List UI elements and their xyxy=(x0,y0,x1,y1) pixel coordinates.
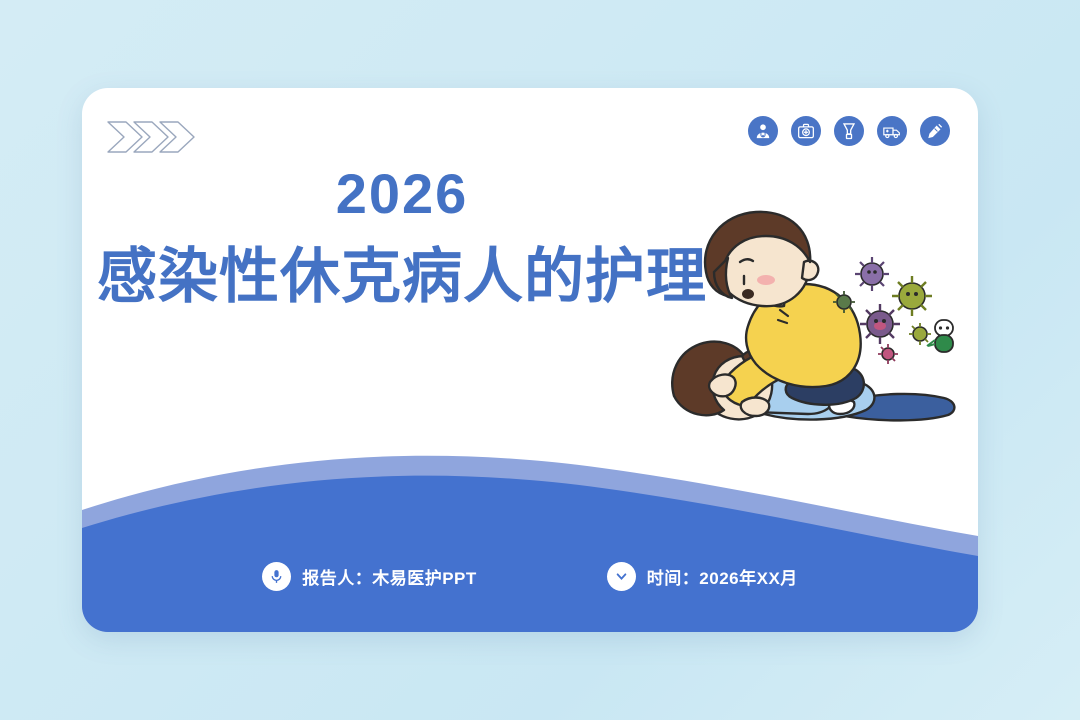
presenter-label: 报告人：木易医护PPT xyxy=(302,564,477,589)
date-item: 时间：2026年XX月 xyxy=(607,562,798,591)
presenter-item: 报告人：木易医护PPT xyxy=(262,562,477,591)
chevron-arrows-icon xyxy=(104,116,214,158)
ambulance-icon xyxy=(877,116,907,146)
doctor-icon xyxy=(748,116,778,146)
first-aid-kit-icon xyxy=(791,116,821,146)
syringe-icon xyxy=(920,116,950,146)
slide-card: 2026 感染性休克病人的护理 xyxy=(82,88,978,632)
footer-bar: 报告人：木易医护PPT 时间：2026年XX月 xyxy=(82,502,978,632)
date-label: 时间：2026年XX月 xyxy=(647,564,798,589)
cpr-illustration xyxy=(644,206,974,456)
medical-icon-row xyxy=(748,116,950,146)
title-block: 2026 感染性休克病人的护理 xyxy=(82,166,722,310)
stethoscope-icon xyxy=(834,116,864,146)
clock-icon xyxy=(607,562,636,591)
page-title: 感染性休克病人的护理 xyxy=(82,244,722,310)
microphone-icon xyxy=(262,562,291,591)
year-label: 2026 xyxy=(82,166,722,222)
